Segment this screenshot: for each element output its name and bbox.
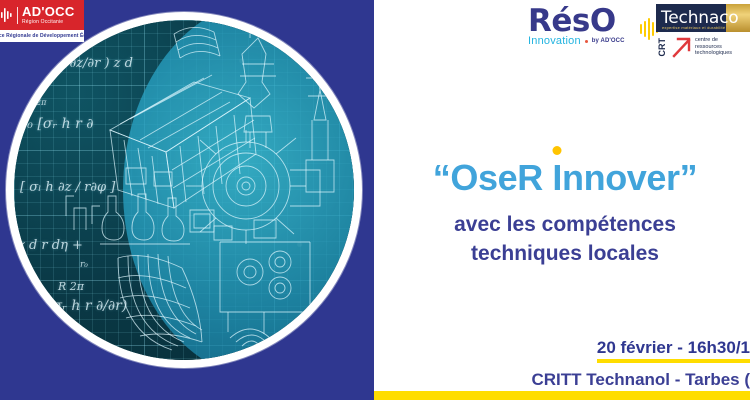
- adocc-strip-text: Agence Régionale de Développement Économ…: [0, 33, 84, 39]
- quote-close: ”: [680, 157, 698, 198]
- crt-description: centre de ressources technologiques: [695, 37, 732, 57]
- reso-by-label: by AD'OCC: [592, 38, 625, 44]
- subtitle-line-2: techniques locales: [390, 239, 740, 268]
- adocc-wordmark: AD'OCC Région Occitanie: [22, 5, 75, 25]
- title-i-letter: I: [552, 157, 562, 198]
- title-i-letter-wrap: I: [552, 158, 562, 198]
- page-title: “OseR Innover”: [390, 158, 740, 198]
- crt-letters: CRT: [658, 38, 667, 57]
- reso-logo[interactable]: RésO Innovation by AD'OCC: [528, 6, 640, 56]
- adocc-name: AD'OCC: [22, 5, 75, 18]
- adocc-logo[interactable]: AD'OCC Région Occitanie Agence Régionale…: [0, 0, 84, 42]
- blueprint-circle-image: (σᵣ h r ∂z/∂r ) z d 2π ∫₀ [σᵣ h r ∂ [ σₗ…: [6, 12, 374, 388]
- adocc-logo-main: AD'OCC Région Occitanie: [0, 0, 84, 30]
- title-text-before: OseR: [450, 157, 552, 198]
- event-datetime: 20 février - 16h30/1: [597, 338, 750, 363]
- adocc-divider: [17, 7, 18, 24]
- circle-artwork-inner: (σᵣ h r ∂z/∂r ) z d 2π ∫₀ [σᵣ h r ∂ [ σₗ…: [14, 20, 354, 360]
- poster-canvas: (σᵣ h r ∂z/∂r ) z d 2π ∫₀ [σᵣ h r ∂ [ σₗ…: [0, 0, 750, 400]
- page-subtitle: avec les compétences techniques locales: [390, 210, 740, 268]
- adocc-region: Région Occitanie: [22, 20, 75, 25]
- technanol-tagline: expertise matériaux et durabilité: [662, 25, 725, 30]
- subtitle-line-1: avec les compétences: [390, 210, 740, 239]
- reso-tagline: Innovation: [528, 35, 581, 47]
- dot-icon: [585, 40, 588, 43]
- title-text-after: nnover: [562, 157, 680, 198]
- adocc-strip: Agence Régionale de Développement Économ…: [0, 30, 84, 42]
- bottom-accent-bar: [374, 391, 750, 400]
- soundwave-icon: [0, 5, 16, 25]
- crt-logo: CRT centre de ressources technologiques: [656, 36, 750, 58]
- crt-line-2: ressources: [695, 44, 722, 50]
- event-location: CRITT Technanol - Tarbes (: [532, 370, 750, 390]
- technanol-wordmark-bar: Technaco expertise matériaux et durabili…: [656, 4, 750, 32]
- quote-open: “: [433, 157, 451, 198]
- crt-line-3: technologiques: [695, 50, 732, 56]
- technanol-wordmark: Technaco: [656, 10, 738, 27]
- reso-wordmark: RésO: [528, 6, 640, 36]
- technanol-logo[interactable]: Technaco expertise matériaux et durabili…: [656, 4, 750, 58]
- yellow-dot-icon: [553, 146, 562, 155]
- crt-line-1: centre de: [695, 37, 718, 43]
- blueprint-speckle-overlay: [14, 20, 354, 360]
- arrow-up-right-icon: [670, 36, 692, 58]
